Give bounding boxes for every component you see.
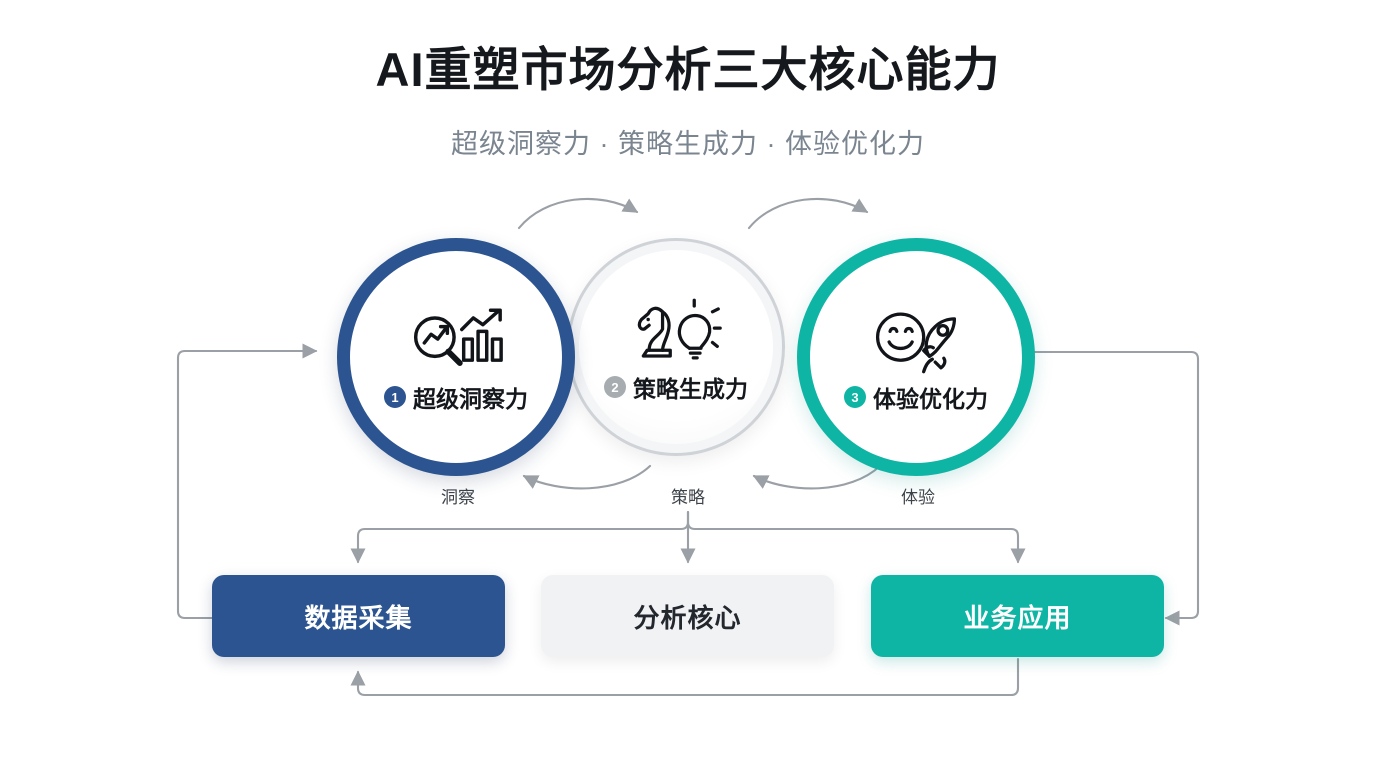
layer-box-data-collection[interactable]: 数据采集	[212, 575, 505, 657]
stage-label-experience: 体验	[858, 483, 978, 508]
stage-label-insight: 洞察	[398, 483, 518, 508]
capability-circle-experience[interactable]: 3 体验优化力	[797, 238, 1035, 476]
layer-box-analysis-core[interactable]: 分析核心	[541, 575, 834, 657]
capability-badge-3: 3	[844, 386, 866, 408]
capability-badge-1: 1	[384, 386, 406, 408]
capability-caption-strategy: 2 策略生成力	[604, 370, 748, 404]
arrow-experience-to-business	[688, 512, 1018, 562]
layer-label-business-application: 业务应用	[963, 598, 1071, 635]
capability-badge-2: 2	[604, 376, 626, 398]
capability-circle-strategy[interactable]: 2 策略生成力	[567, 238, 785, 456]
stage-label-strategy: 策略	[628, 483, 748, 508]
smiley-rocket-icon	[868, 306, 964, 376]
chess-knight-lightbulb-icon	[628, 296, 724, 366]
layer-label-analysis-core: 分析核心	[633, 598, 741, 635]
capability-label-2: 策略生成力	[633, 370, 748, 404]
capability-label-1: 超级洞察力	[413, 380, 528, 414]
magnifier-bar-chart-icon	[408, 306, 504, 376]
arrow-feedback-business-to-collection	[358, 659, 1018, 695]
layer-label-data-collection: 数据采集	[304, 598, 412, 635]
arrow-circle1-to-circle2	[519, 199, 637, 228]
arrow-circle2-to-circle3	[749, 199, 867, 228]
capability-caption-experience: 3 体验优化力	[844, 380, 988, 414]
diagram-canvas: AI重塑市场分析三大核心能力 超级洞察力 · 策略生成力 · 体验优化力	[0, 0, 1376, 768]
capability-circle-insight[interactable]: 1 超级洞察力	[337, 238, 575, 476]
arrow-insight-to-collection	[358, 512, 688, 562]
capability-label-3: 体验优化力	[873, 380, 988, 414]
layer-box-business-application[interactable]: 业务应用	[871, 575, 1164, 657]
capability-caption-insight: 1 超级洞察力	[384, 380, 528, 414]
